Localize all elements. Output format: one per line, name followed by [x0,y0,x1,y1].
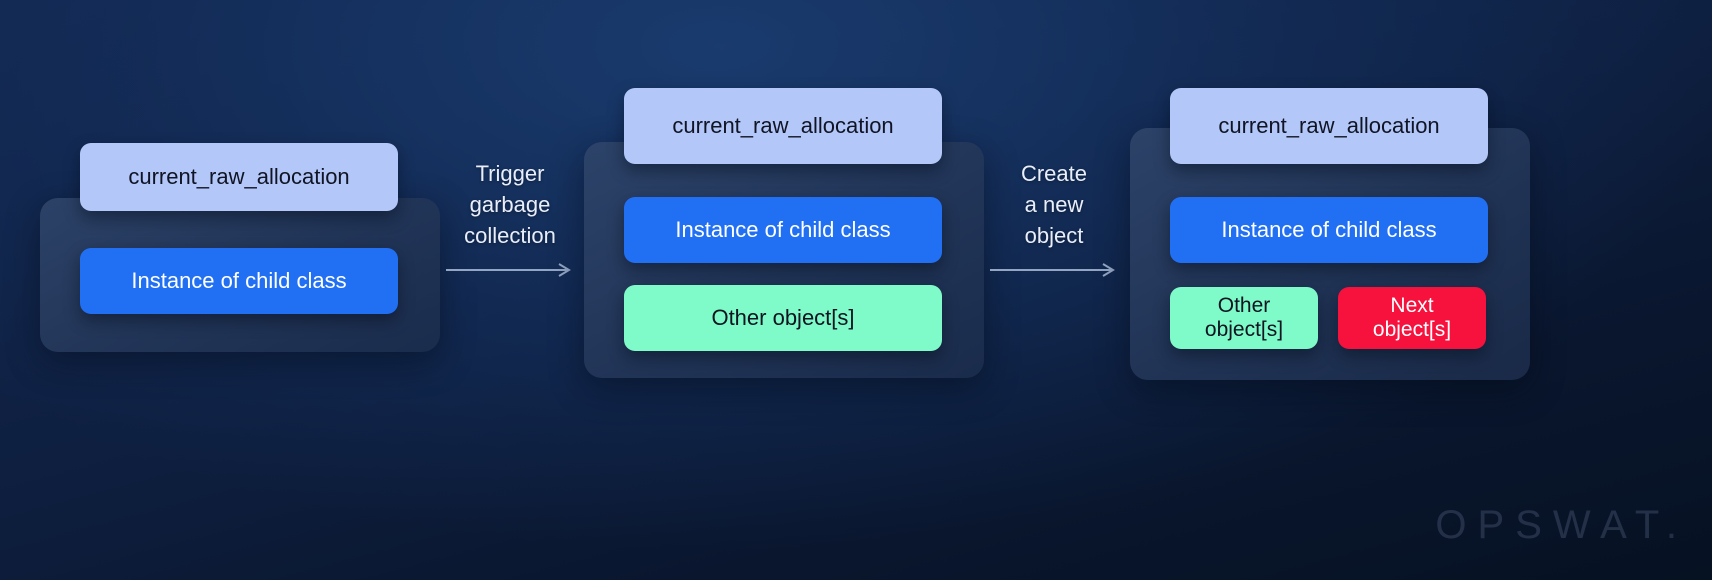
transition-label-create-a-new-object: Create a new object [1021,158,1087,252]
arrow-right-icon [988,262,1120,278]
card-next-objects-group3: Next object[s] [1338,287,1486,349]
transition-label-trigger-garbage-collection: Trigger garbage collection [464,158,556,252]
arrow-right-icon [444,262,576,278]
card-other-objects-group3: Other object[s] [1170,287,1318,349]
card-current-raw-allocation-group2: current_raw_allocation [624,88,942,164]
card-current-raw-allocation-group1: current_raw_allocation [80,143,398,211]
card-instance-of-child-class-group2: Instance of child class [624,197,942,263]
card-other-objects-group2: Other object[s] [624,285,942,351]
opswat-watermark: OPSWAT. [1435,503,1688,548]
card-instance-of-child-class-group1: Instance of child class [80,248,398,314]
memory-layout-diagram: current_raw_allocation Instance of child… [0,0,1712,580]
transition-trigger-garbage-collection: Trigger garbage collection [440,158,580,278]
transition-create-a-new-object: Create a new object [988,158,1120,278]
card-instance-of-child-class-group3: Instance of child class [1170,197,1488,263]
card-current-raw-allocation-group3: current_raw_allocation [1170,88,1488,164]
